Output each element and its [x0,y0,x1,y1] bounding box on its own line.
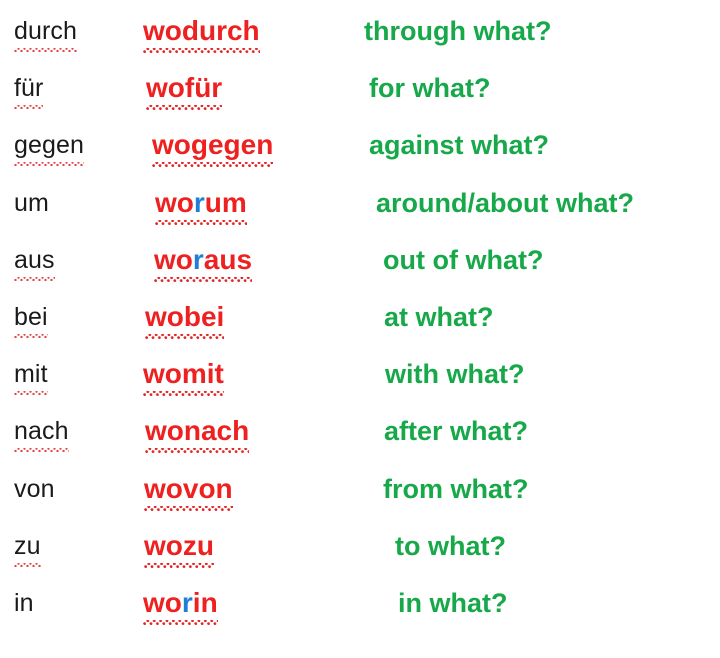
wo-compound-text: wodurch [143,14,260,48]
english-translation-cell: after what? [384,414,528,448]
wo-compound-prefix: wo [155,187,194,218]
wo-compound-prefix: wo [154,244,193,275]
table-row: vonwovonfrom what? [0,472,720,529]
wo-compound-text: woraus [154,243,252,277]
wo-compound-cell: woraus [154,243,384,277]
english-translation-text: after what? [384,416,528,446]
wo-compound-text: wozu [144,529,214,563]
preposition-text: für [14,71,43,105]
preposition-text: von [14,475,55,503]
preposition-cell: bei [14,300,134,334]
wo-compound-suffix: aus [204,244,252,275]
table-row: durchwodurchthrough what? [0,14,720,71]
wo-compound-cell: wodurch [143,14,373,48]
wo-compound-text: worum [155,186,247,220]
preposition-cell: mit [14,357,134,391]
wo-compound-cell: wozu [144,529,374,563]
wo-compound-prefix: wogegen [152,129,273,160]
table-row: nachwonachafter what? [0,414,720,471]
table-row: fürwofürfor what? [0,71,720,128]
table-row: inworinin what? [0,586,720,643]
preposition-text: mit [14,357,48,391]
table-row: mitwomitwith what? [0,357,720,414]
table-row: umworumaround/about what? [0,186,720,243]
preposition-cell: von [14,472,134,506]
preposition-text: zu [14,529,41,563]
english-translation-text: out of what? [383,245,543,275]
wo-compound-text: wovon [144,472,233,506]
wo-compound-prefix: wonach [145,415,249,446]
wo-compound-cell: wobei [145,300,375,334]
wo-compound-text: wonach [145,414,249,448]
english-translation-cell: against what? [369,128,549,162]
preposition-text: durch [14,14,77,48]
english-translation-text: to what? [395,531,506,561]
english-translation-text: around/about what? [376,188,634,218]
wo-compound-prefix: wobei [145,301,224,332]
english-translation-text: at what? [384,302,494,332]
table-row: beiwobeiat what? [0,300,720,357]
preposition-cell: zu [14,529,134,563]
english-translation-cell: to what? [395,529,506,563]
table-row: zuwozuto what? [0,529,720,586]
preposition-cell: aus [14,243,134,277]
wo-compound-highlight-letter: r [182,587,193,618]
wo-compound-prefix: wodurch [143,15,260,46]
preposition-text: um [14,189,49,217]
preposition-text: aus [14,243,55,277]
wo-compound-cell: worum [155,186,385,220]
preposition-cell: gegen [14,128,134,162]
english-translation-text: through what? [364,16,551,46]
preposition-cell: nach [14,414,134,448]
english-translation-cell: through what? [364,14,551,48]
english-translation-cell: around/about what? [376,186,634,220]
english-translation-cell: out of what? [383,243,543,277]
wo-compound-cell: worin [143,586,373,620]
wo-compound-prefix: wo [143,587,182,618]
english-translation-text: from what? [383,474,529,504]
wo-compound-highlight-letter: r [194,187,205,218]
wo-compound-cell: wonach [145,414,375,448]
preposition-cell: um [14,186,134,220]
wo-compound-text: wogegen [152,128,273,162]
preposition-text: gegen [14,128,84,162]
preposition-cell: für [14,71,134,105]
english-translation-cell: for what? [369,71,491,105]
english-translation-cell: in what? [398,586,508,620]
english-translation-text: for what? [369,73,491,103]
wo-compound-highlight-letter: r [193,244,204,275]
table-row: ausworausout of what? [0,243,720,300]
english-translation-cell: with what? [385,357,524,391]
table-row: gegenwogegenagainst what? [0,128,720,185]
wo-compound-prefix: wozu [144,530,214,561]
english-translation-text: in what? [398,588,508,618]
wo-compound-text: worin [143,586,218,620]
preposition-cell: in [14,586,134,620]
wo-compound-cell: wogegen [152,128,382,162]
preposition-cell: durch [14,14,134,48]
preposition-text: bei [14,300,48,334]
english-translation-cell: from what? [383,472,529,506]
wo-compound-text: wofür [146,71,222,105]
wo-compound-suffix: um [205,187,247,218]
wo-compound-cell: womit [143,357,373,391]
english-translation-cell: at what? [384,300,494,334]
wo-compound-cell: wovon [144,472,374,506]
preposition-text: nach [14,414,69,448]
wo-compound-prefix: womit [143,358,224,389]
wo-compound-suffix: in [193,587,218,618]
wo-compound-cell: wofür [146,71,376,105]
wo-compound-table: durchwodurchthrough what?fürwofürfor wha… [0,0,720,658]
wo-compound-prefix: wofür [146,72,222,103]
english-translation-text: with what? [385,359,524,389]
preposition-text: in [14,589,34,617]
wo-compound-text: wobei [145,300,224,334]
english-translation-text: against what? [369,130,549,160]
wo-compound-text: womit [143,357,224,391]
wo-compound-prefix: wovon [144,473,233,504]
